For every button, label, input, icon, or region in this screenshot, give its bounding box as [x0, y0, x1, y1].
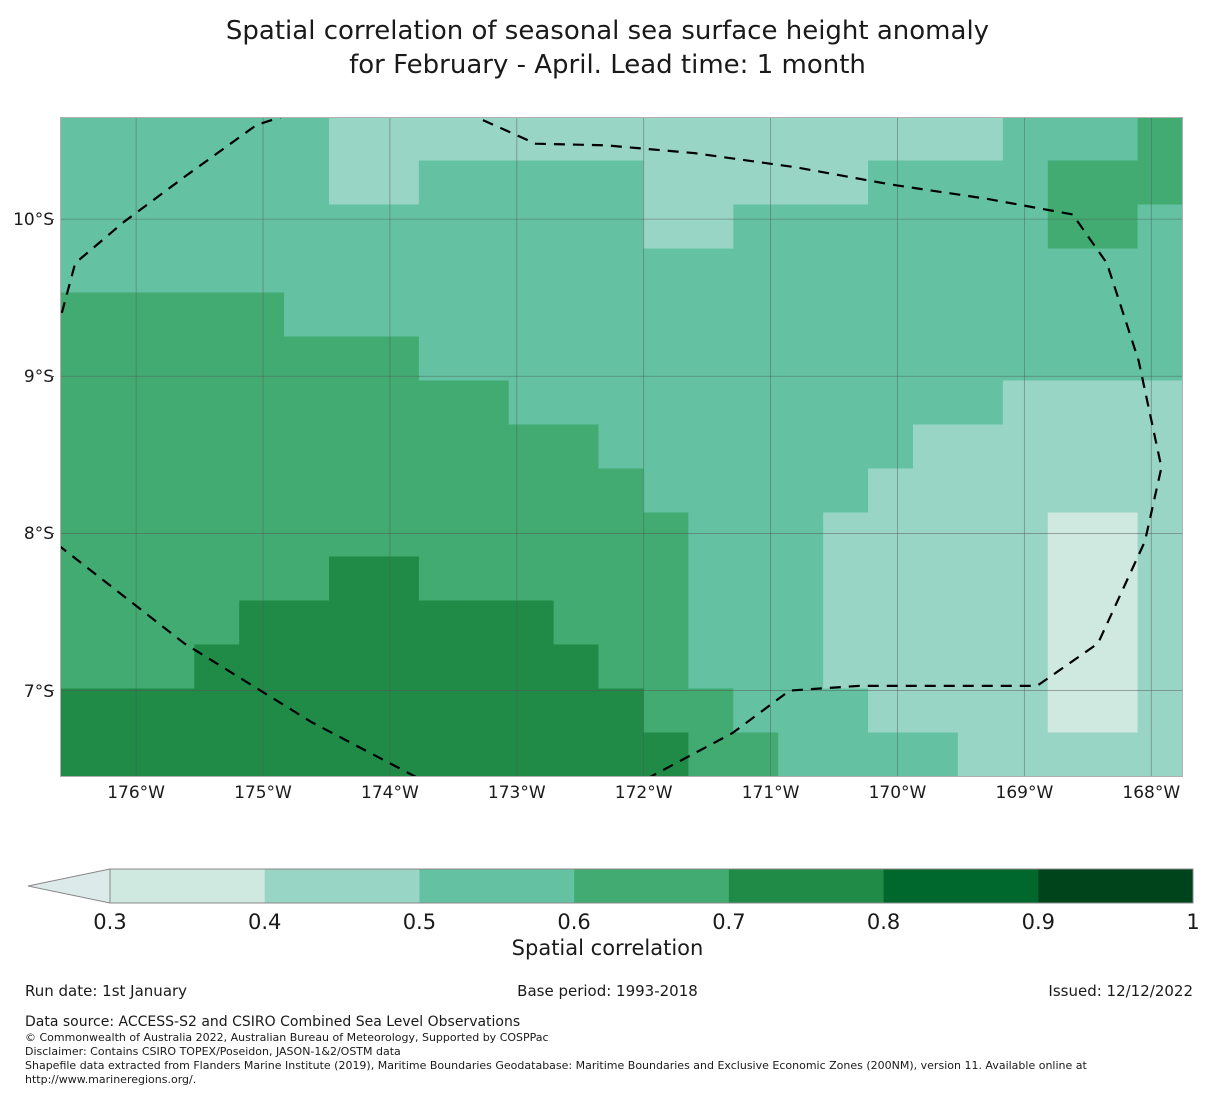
y-axis-tick-mark — [50, 376, 54, 377]
heatmap-cell — [958, 249, 1004, 294]
heatmap-cell — [104, 469, 150, 514]
heatmap-cell — [823, 161, 869, 206]
heatmap-cell — [733, 161, 779, 206]
heatmap-cell — [868, 689, 914, 734]
heatmap-cell — [643, 381, 689, 426]
heatmap-cell — [599, 205, 645, 250]
heatmap-cell — [688, 293, 734, 338]
heatmap-cell — [464, 425, 510, 470]
heatmap-cell — [913, 469, 959, 514]
heatmap-cell — [733, 733, 779, 778]
heatmap-cell — [599, 117, 645, 162]
heatmap-cell — [1003, 469, 1049, 514]
heatmap-cell — [60, 425, 105, 470]
heatmap-cell — [733, 645, 779, 690]
heatmap-cell — [194, 733, 240, 778]
heatmap-cell — [149, 645, 195, 690]
heatmap-cell — [374, 205, 420, 250]
heatmap-cell — [958, 381, 1004, 426]
heatmap-cell — [688, 337, 734, 382]
heatmap-cell — [599, 469, 645, 514]
heatmap-cell — [643, 161, 689, 206]
heatmap-cell — [374, 293, 420, 338]
heatmap-cell — [1048, 689, 1094, 734]
heatmap-cell — [913, 425, 959, 470]
heatmap-cell — [239, 337, 285, 382]
heatmap-cell — [194, 425, 240, 470]
heatmap-cell — [1138, 293, 1183, 338]
heatmap-cell — [823, 689, 869, 734]
heatmap-cell — [194, 337, 240, 382]
heatmap-cell — [778, 733, 824, 778]
heatmap-cell — [464, 733, 510, 778]
heatmap-cell — [60, 249, 105, 294]
y-axis-labels: 7°S8°S9°S10°S — [0, 117, 54, 777]
heatmap-cell — [239, 381, 285, 426]
heatmap-cell — [239, 205, 285, 250]
heatmap-cell — [374, 117, 420, 162]
heatmap-cell — [733, 513, 779, 558]
heatmap-cell — [149, 337, 195, 382]
heatmap-cell — [868, 249, 914, 294]
y-axis-tick-label: 9°S — [0, 367, 54, 387]
heatmap-cell — [1048, 117, 1094, 162]
heatmap-cell — [1003, 733, 1049, 778]
heatmap-cells — [60, 117, 1183, 777]
heatmap-cell — [509, 381, 555, 426]
heatmap-cell — [464, 293, 510, 338]
heatmap-cell — [778, 381, 824, 426]
colorbar-extend-min-arrow — [28, 869, 110, 903]
heatmap-cell — [419, 733, 465, 778]
heatmap-cell — [149, 249, 195, 294]
heatmap-cell — [643, 293, 689, 338]
heatmap-cell — [868, 733, 914, 778]
heatmap-cell — [284, 689, 330, 734]
heatmap-cell — [149, 425, 195, 470]
heatmap-cell — [823, 249, 869, 294]
heatmap-cell — [1003, 557, 1049, 602]
heatmap-cell — [1048, 513, 1094, 558]
heatmap-cell — [104, 557, 150, 602]
heatmap-cell — [329, 425, 375, 470]
heatmap-cell — [60, 337, 105, 382]
heatmap-cell — [913, 645, 959, 690]
heatmap-cell — [599, 249, 645, 294]
heatmap-cell — [599, 161, 645, 206]
heatmap-cell — [643, 513, 689, 558]
heatmap-cell — [599, 645, 645, 690]
heatmap-cell — [1048, 293, 1094, 338]
heatmap-cell — [464, 469, 510, 514]
heatmap-cell — [1003, 601, 1049, 646]
heatmap-cell — [374, 601, 420, 646]
disclaimer-label: Disclaimer: Contains CSIRO TOPEX/Poseido… — [25, 1045, 1205, 1059]
heatmap-cell — [913, 557, 959, 602]
heatmap-cell — [1003, 249, 1049, 294]
heatmap-cell — [149, 557, 195, 602]
heatmap-cell — [239, 161, 285, 206]
colorbar-tick-label: 0.7 — [684, 910, 774, 934]
heatmap-cell — [194, 161, 240, 206]
heatmap-cell — [329, 733, 375, 778]
heatmap-cell — [149, 293, 195, 338]
heatmap-cell — [374, 381, 420, 426]
x-axis-tick-label: 168°W — [1101, 783, 1201, 803]
heatmap-cell — [643, 689, 689, 734]
heatmap-cell — [733, 293, 779, 338]
heatmap-cell — [194, 117, 240, 162]
heatmap-cell — [60, 513, 105, 558]
heatmap-cell — [104, 293, 150, 338]
heatmap-cell — [419, 689, 465, 734]
heatmap-cell — [149, 117, 195, 162]
heatmap-cell — [733, 469, 779, 514]
heatmap-cell — [1048, 425, 1094, 470]
x-axis-tick-label: 175°W — [213, 783, 313, 803]
data-source-label: Data source: ACCESS-S2 and CSIRO Combine… — [25, 1013, 1205, 1031]
heatmap-cell — [868, 117, 914, 162]
heatmap-cell — [104, 689, 150, 734]
x-axis-tick-label: 173°W — [467, 783, 567, 803]
heatmap-cell — [823, 337, 869, 382]
heatmap-cell — [464, 689, 510, 734]
colorbar-title: Spatial correlation — [0, 936, 1215, 960]
colorbar-tick-label: 1 — [1148, 910, 1215, 934]
heatmap-cell — [239, 601, 285, 646]
heatmap-cell — [464, 117, 510, 162]
colorbar-swatches — [0, 860, 1215, 912]
heatmap-cell — [913, 381, 959, 426]
heatmap-cell — [419, 381, 465, 426]
heatmap-cell — [284, 117, 330, 162]
heatmap-cell — [958, 425, 1004, 470]
colorbar-segment — [1038, 869, 1193, 903]
heatmap-cell — [868, 601, 914, 646]
heatmap-cell — [1093, 161, 1139, 206]
heatmap-cell — [554, 381, 600, 426]
heatmap-cell — [1048, 469, 1094, 514]
heatmap-cell — [104, 337, 150, 382]
heatmap-cell — [419, 117, 465, 162]
heatmap-cell — [284, 381, 330, 426]
heatmap-cell — [60, 557, 105, 602]
heatmap-cell — [823, 513, 869, 558]
heatmap-cell — [868, 337, 914, 382]
heatmap-cell — [688, 425, 734, 470]
heatmap-cell — [688, 689, 734, 734]
heatmap-cell — [643, 557, 689, 602]
heatmap-cell — [778, 469, 824, 514]
heatmap-cell — [868, 513, 914, 558]
heatmap-cell — [419, 205, 465, 250]
heatmap-cell — [194, 513, 240, 558]
heatmap-cell — [60, 293, 105, 338]
colorbar-tick-label: 0.8 — [839, 910, 929, 934]
heatmap-cell — [1048, 557, 1094, 602]
heatmap-cell — [1048, 337, 1094, 382]
heatmap-cell — [599, 689, 645, 734]
heatmap-cell — [1003, 161, 1049, 206]
base-period-label: Base period: 1993-2018 — [0, 982, 1215, 1000]
heatmap-cell — [554, 425, 600, 470]
heatmap-cell — [374, 689, 420, 734]
colorbar-tick-label: 0.4 — [220, 910, 310, 934]
heatmap-cell — [464, 205, 510, 250]
heatmap-cell — [239, 469, 285, 514]
heatmap-cell — [868, 469, 914, 514]
heatmap-cell — [958, 117, 1004, 162]
heatmap-cell — [778, 117, 824, 162]
heatmap-cell — [104, 601, 150, 646]
colorbar-tick-label: 0.5 — [374, 910, 464, 934]
heatmap-cell — [599, 513, 645, 558]
x-axis-tick-label: 172°W — [594, 783, 694, 803]
heatmap-cell — [194, 293, 240, 338]
heatmap-cell — [913, 601, 959, 646]
heatmap-cell — [509, 161, 555, 206]
heatmap-cell — [1093, 645, 1139, 690]
heatmap-cell — [1138, 205, 1183, 250]
heatmap-cell — [104, 249, 150, 294]
heatmap-cell — [554, 733, 600, 778]
x-axis-tick-label: 171°W — [721, 783, 821, 803]
heatmap-cell — [284, 425, 330, 470]
heatmap-cell — [554, 337, 600, 382]
heatmap-cell — [239, 513, 285, 558]
shapefile-url-label: http://www.marineregions.org/. — [25, 1073, 1205, 1087]
copyright-label: © Commonwealth of Australia 2022, Austra… — [25, 1031, 1205, 1045]
heatmap-cell — [733, 601, 779, 646]
heatmap-cell — [554, 601, 600, 646]
heatmap-cell — [958, 513, 1004, 558]
heatmap-cell — [1003, 293, 1049, 338]
heatmap-cell — [374, 425, 420, 470]
colorbar-segment — [729, 869, 884, 903]
heatmap-cell — [284, 337, 330, 382]
heatmap-cell — [554, 293, 600, 338]
heatmap-cell — [239, 249, 285, 294]
heatmap-cell — [1093, 293, 1139, 338]
heatmap-cell — [823, 205, 869, 250]
heatmap-cell — [688, 469, 734, 514]
heatmap-cell — [284, 601, 330, 646]
heatmap-cell — [284, 557, 330, 602]
heatmap-cell — [149, 513, 195, 558]
heatmap-cell — [509, 601, 555, 646]
x-axis-tick-label: 170°W — [848, 783, 948, 803]
heatmap-cell — [1003, 689, 1049, 734]
heatmap-cell — [823, 293, 869, 338]
heatmap-cell — [464, 513, 510, 558]
heatmap-cell — [374, 557, 420, 602]
heatmap-cell — [913, 205, 959, 250]
heatmap-cell — [823, 557, 869, 602]
heatmap-cell — [284, 645, 330, 690]
heatmap-cell — [419, 513, 465, 558]
heatmap-cell — [958, 469, 1004, 514]
heatmap-cell — [1048, 381, 1094, 426]
heatmap-cell — [239, 425, 285, 470]
colorbar-tick-label: 0.9 — [993, 910, 1083, 934]
heatmap-cell — [554, 205, 600, 250]
heatmap-cell — [913, 337, 959, 382]
heatmap-cell — [509, 293, 555, 338]
heatmap-cell — [688, 645, 734, 690]
heatmap-cell — [374, 645, 420, 690]
heatmap-cell — [643, 601, 689, 646]
heatmap-cell — [868, 381, 914, 426]
heatmap-cell — [1093, 469, 1139, 514]
heatmap-cell — [329, 161, 375, 206]
heatmap-cell — [778, 205, 824, 250]
heatmap-cell — [104, 645, 150, 690]
heatmap-cell — [913, 293, 959, 338]
heatmap-cell — [194, 469, 240, 514]
heatmap-cell — [733, 557, 779, 602]
heatmap-cell — [60, 161, 105, 206]
x-axis-tick-label: 176°W — [86, 783, 186, 803]
heatmap-cell — [599, 337, 645, 382]
heatmap-cell — [958, 601, 1004, 646]
heatmap-cell — [329, 645, 375, 690]
heatmap-cell — [733, 425, 779, 470]
heatmap-cell — [643, 337, 689, 382]
heatmap-cell — [823, 425, 869, 470]
heatmap-cell — [1138, 645, 1183, 690]
heatmap-cell — [419, 161, 465, 206]
heatmap-cell — [509, 557, 555, 602]
heatmap-cell — [554, 117, 600, 162]
heatmap-cell — [1138, 425, 1183, 470]
heatmap-cell — [284, 205, 330, 250]
heatmap-cell — [554, 161, 600, 206]
heatmap-cell — [868, 293, 914, 338]
heatmap-cell — [509, 249, 555, 294]
heatmap-cell — [374, 733, 420, 778]
heatmap-cell — [509, 425, 555, 470]
heatmap-cell — [778, 293, 824, 338]
heatmap-cell — [778, 337, 824, 382]
heatmap-cell — [643, 645, 689, 690]
heatmap-cell — [958, 645, 1004, 690]
heatmap-cell — [913, 689, 959, 734]
heatmap-cell — [823, 733, 869, 778]
heatmap-cell — [823, 469, 869, 514]
heatmap-cell — [868, 645, 914, 690]
heatmap-cell — [733, 381, 779, 426]
x-axis-labels: 176°W175°W174°W173°W172°W171°W170°W169°W… — [60, 783, 1183, 809]
heatmap-cell — [1093, 425, 1139, 470]
heatmap-cell — [60, 381, 105, 426]
heatmap-cell — [823, 601, 869, 646]
heatmap-cell — [329, 557, 375, 602]
heatmap-cell — [464, 337, 510, 382]
shapefile-credit-label: Shapefile data extracted from Flanders M… — [25, 1059, 1205, 1073]
heatmap-cell — [688, 381, 734, 426]
heatmap-cell — [104, 425, 150, 470]
heatmap-cell — [958, 733, 1004, 778]
heatmap-cell — [60, 645, 105, 690]
colorbar-segment — [110, 869, 265, 903]
heatmap-cell — [329, 293, 375, 338]
heatmap-cell — [509, 689, 555, 734]
heatmap-cell — [733, 689, 779, 734]
heatmap-cell — [913, 733, 959, 778]
heatmap-cell — [194, 557, 240, 602]
heatmap-cell — [194, 689, 240, 734]
y-axis-tick-label: 8°S — [0, 524, 54, 544]
heatmap-cell — [688, 733, 734, 778]
heatmap-cell — [778, 249, 824, 294]
colorbar-tick-label: 0.6 — [529, 910, 619, 934]
y-axis-tick-label: 10°S — [0, 210, 54, 230]
heatmap-cell — [643, 249, 689, 294]
x-axis-tick-label: 174°W — [340, 783, 440, 803]
heatmap-cell — [329, 117, 375, 162]
colorbar-segment — [574, 869, 729, 903]
heatmap-cell — [823, 645, 869, 690]
heatmap-cell — [464, 601, 510, 646]
y-axis-tick-mark — [50, 219, 54, 220]
heatmap-cell — [104, 381, 150, 426]
heatmap-cell — [509, 337, 555, 382]
heatmap-cell — [194, 601, 240, 646]
heatmap-cell — [958, 337, 1004, 382]
y-axis-tick-mark — [50, 533, 54, 534]
heatmap-cell — [778, 601, 824, 646]
heatmap-cell — [329, 205, 375, 250]
heatmap-cell — [374, 161, 420, 206]
heatmap-cell — [643, 205, 689, 250]
heatmap-cell — [419, 293, 465, 338]
heatmap-cell — [194, 645, 240, 690]
heatmap-cell — [1048, 601, 1094, 646]
heatmap-cell — [509, 117, 555, 162]
heatmap-cell — [1138, 601, 1183, 646]
heatmap-cell — [284, 513, 330, 558]
heatmap-cell — [599, 425, 645, 470]
heatmap-cell — [554, 249, 600, 294]
heatmap-cell — [1048, 161, 1094, 206]
heatmap-cell — [419, 645, 465, 690]
heatmap-cell — [149, 469, 195, 514]
heatmap-cell — [104, 161, 150, 206]
heatmap-cell — [374, 469, 420, 514]
heatmap-cell — [733, 205, 779, 250]
heatmap-cell — [509, 205, 555, 250]
heatmap-cell — [1003, 425, 1049, 470]
heatmap-cell — [913, 513, 959, 558]
heatmap-cell — [194, 249, 240, 294]
heatmap-cell — [419, 601, 465, 646]
heatmap-cell — [599, 601, 645, 646]
heatmap-cell — [104, 205, 150, 250]
heatmap-cell — [688, 513, 734, 558]
heatmap-cell — [1003, 513, 1049, 558]
heatmap-cell — [464, 161, 510, 206]
heatmap-cell — [464, 249, 510, 294]
heatmap-cell — [554, 645, 600, 690]
heatmap-cell — [778, 557, 824, 602]
heatmap-cell — [599, 293, 645, 338]
heatmap-cell — [194, 381, 240, 426]
heatmap-cell — [284, 469, 330, 514]
heatmap-cell — [554, 689, 600, 734]
heatmap-cell — [104, 733, 150, 778]
heatmap-cell — [374, 513, 420, 558]
heatmap-cell — [1138, 337, 1183, 382]
